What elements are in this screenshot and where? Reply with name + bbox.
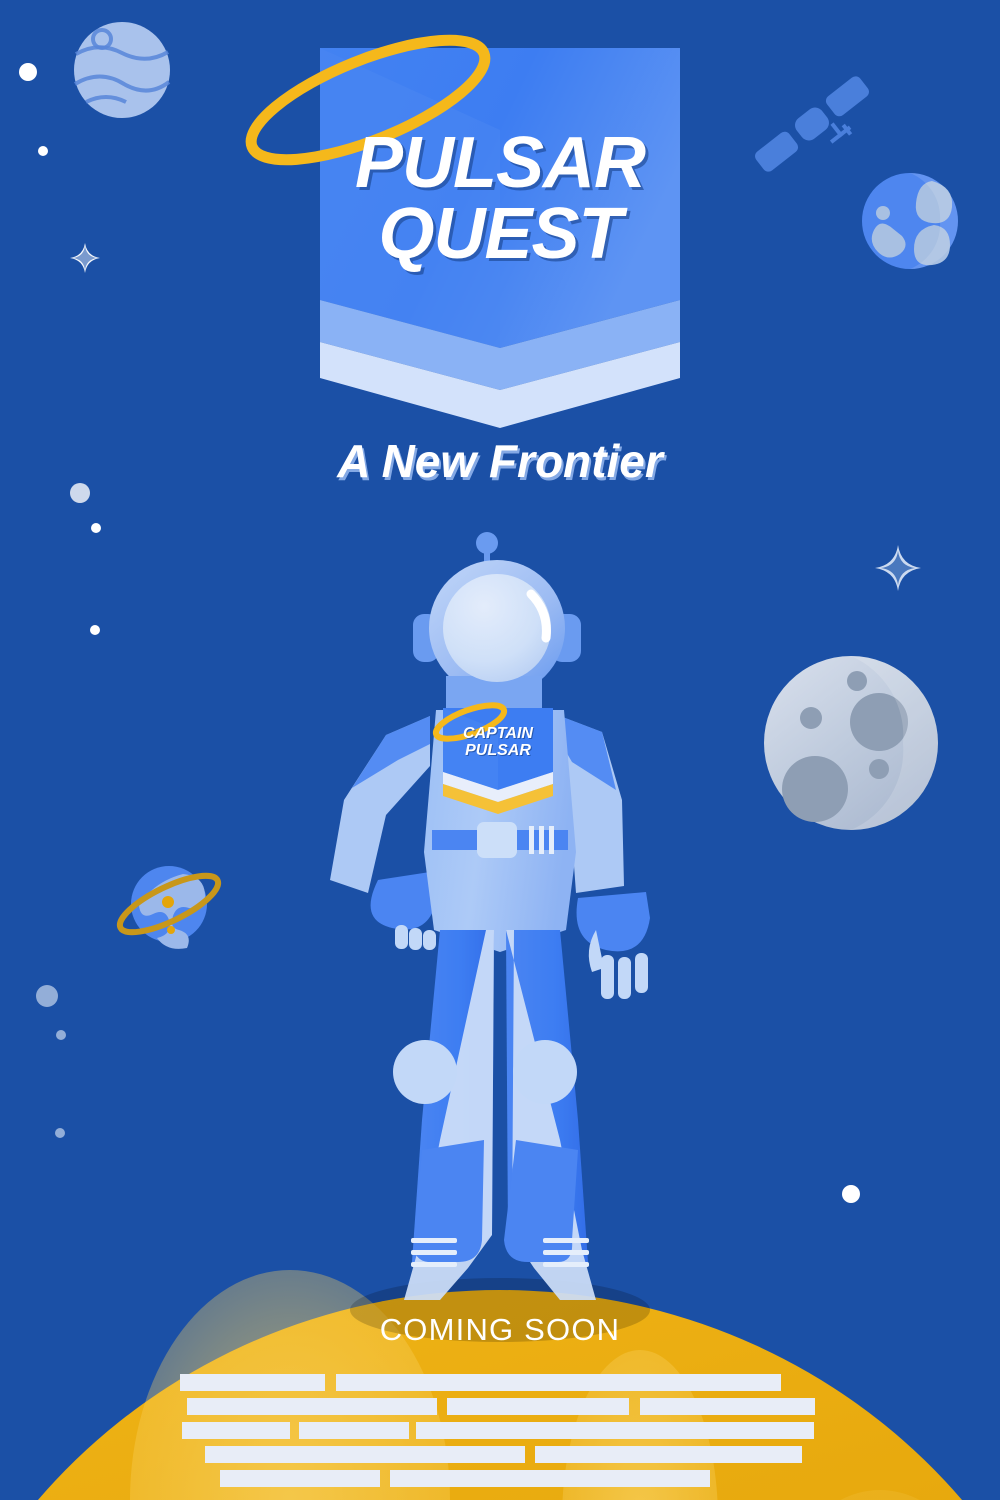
- badge-line-2: PULSAR: [443, 743, 553, 760]
- placeholder-bar: [416, 1422, 814, 1439]
- chest-badge-text: CAPTAIN PULSAR: [443, 726, 553, 760]
- placeholder-bar: [182, 1422, 290, 1439]
- placeholder-bar: [447, 1398, 629, 1415]
- placeholder-bar: [205, 1446, 525, 1463]
- placeholder-bar: [390, 1470, 710, 1487]
- placeholder-bar: [299, 1422, 409, 1439]
- placeholder-bar: [220, 1470, 380, 1487]
- title-line-1: PULSAR: [0, 128, 1000, 199]
- poster-canvas: PULSAR QUEST A New Frontier: [0, 0, 1000, 1500]
- placeholder-bar: [187, 1398, 437, 1415]
- status-badge: COMING SOON: [0, 1312, 1000, 1348]
- badge-line-1: CAPTAIN: [443, 726, 553, 743]
- placeholder-bar: [535, 1446, 802, 1463]
- placeholder-bar: [336, 1374, 781, 1391]
- subtitle: A New Frontier: [0, 434, 1000, 488]
- page-title: PULSAR QUEST: [0, 128, 1000, 269]
- placeholder-bar: [180, 1374, 325, 1391]
- placeholder-bar: [640, 1398, 815, 1415]
- title-line-2: QUEST: [0, 199, 1000, 270]
